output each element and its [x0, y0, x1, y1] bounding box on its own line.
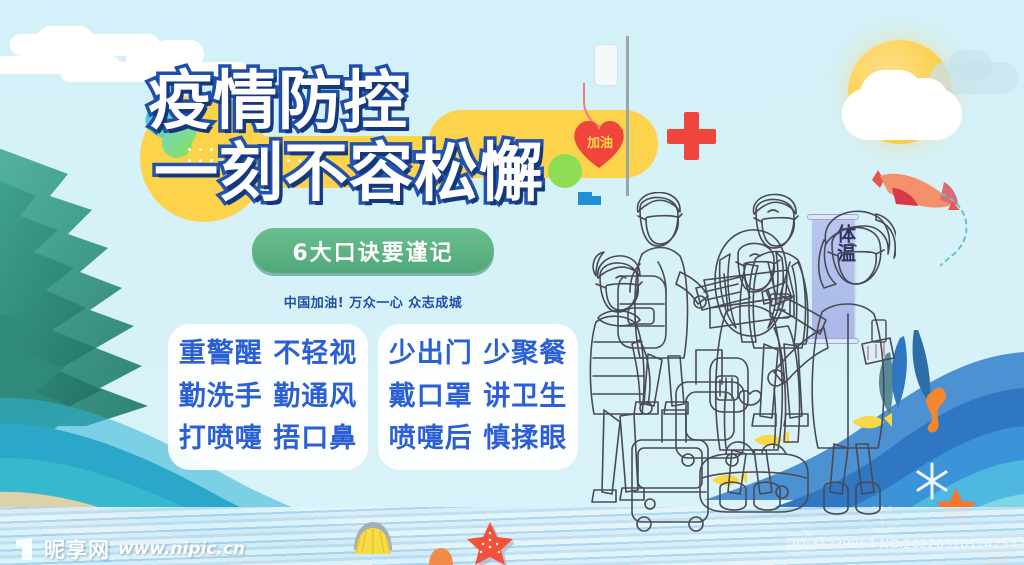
corner-square-decor — [578, 192, 592, 205]
poster-canvas: 疫情防控 一刻不容松懈 加油 6大口诀要谨记 中国加油! 万众一心 众志成城 重… — [0, 0, 1024, 565]
cloud-grey-icon — [948, 50, 992, 80]
airplane-trail-icon — [940, 192, 1020, 268]
shell-icon — [352, 520, 394, 560]
tip-row: 打喷嚏 捂口鼻 — [178, 418, 358, 461]
shell-small-icon — [428, 547, 454, 565]
tip-row: 重警醒 不轻视 — [178, 333, 358, 376]
watermark-id: ID:31229954 NO:20220310124254745106 — [786, 534, 1024, 553]
figure-masked-woman — [700, 230, 808, 512]
tip-row: 戴口罩 讲卫生 — [388, 376, 568, 419]
starfish-icon — [466, 521, 514, 565]
subhead-button[interactable]: 6大口诀要谨记 — [252, 228, 494, 273]
title-line-2: 一刻不容松懈 — [154, 122, 544, 214]
tips-card-left: 重警醒 不轻视 勤洗手 勤通风 打喷嚏 捂口鼻 — [168, 324, 368, 470]
cloud-icon — [900, 78, 948, 120]
logo-mark-icon — [14, 536, 36, 562]
title-line-2-text: 一刻不容松懈 — [154, 122, 544, 214]
people-illustration — [576, 192, 896, 532]
site-name-cn: 昵享网 — [44, 534, 110, 564]
subhead-button-label: 6大口诀要谨记 — [292, 235, 453, 267]
tip-row: 少出门 少聚餐 — [388, 333, 568, 376]
tip-row: 喷嚏后 慎揉眼 — [388, 418, 568, 461]
medical-cross-icon — [667, 129, 716, 144]
corner-square-decor — [592, 196, 601, 205]
slogan-text: 中国加油! 万众一心 众志成城 — [252, 292, 494, 311]
tips-card-right: 少出门 少聚餐 戴口罩 讲卫生 喷嚏后 慎揉眼 — [378, 324, 578, 470]
iv-bag-icon — [594, 44, 618, 86]
site-url: www.nipic.cn — [118, 539, 245, 559]
tip-row: 勤洗手 勤通风 — [178, 376, 358, 419]
cloud-icon — [36, 26, 94, 56]
figure-medical-worker — [762, 211, 896, 514]
site-logo[interactable]: 昵享网 www.nipic.cn — [14, 534, 245, 564]
heart-label-text: 加油 — [580, 132, 620, 151]
